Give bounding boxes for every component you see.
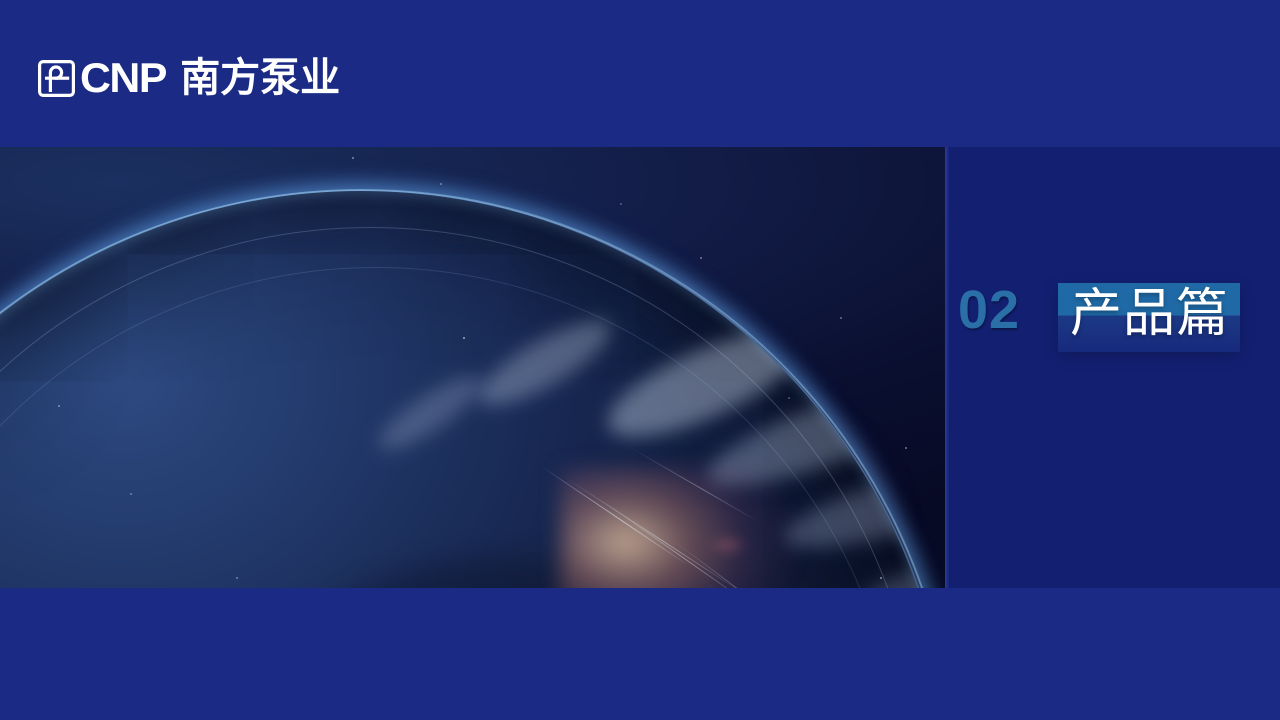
cnp-logo-mark-icon — [38, 60, 75, 97]
hero-image-panel — [0, 147, 945, 588]
brand-logo: CNP 南方泵业 — [38, 54, 340, 102]
presentation-slide: 02 产品篇 CNP 南方泵业 节能泵王 绿色中国 节能泵王 绿色中国 — [0, 0, 1280, 720]
logo-latin-text: CNP — [80, 57, 166, 99]
panel-divider — [945, 147, 949, 588]
section-title: 产品篇 — [1070, 280, 1250, 348]
slide-header: CNP 南方泵业 — [0, 0, 1280, 147]
slide-footer: 节能泵王 绿色中国 节能泵王 绿色中国 — [0, 588, 1280, 720]
logo-chinese-text: 南方泵业 — [180, 58, 340, 98]
section-panel — [945, 147, 1280, 588]
section-number: 02 — [958, 283, 1020, 337]
